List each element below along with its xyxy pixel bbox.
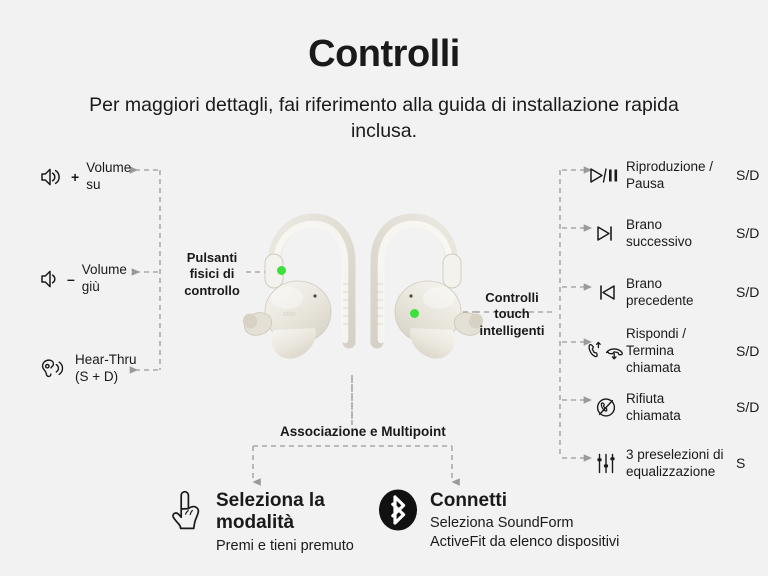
previous-track-icon <box>586 284 626 301</box>
page-title: Controlli <box>0 35 768 75</box>
pairing-step-select-mode: Seleziona la modalità Premi e tieni prem… <box>168 488 354 556</box>
left-button-indicator-dot <box>277 266 286 275</box>
earbuds-product-image: ottiv <box>243 212 483 380</box>
right-item-side: S <box>736 455 762 471</box>
right-item-side: S/D <box>736 343 762 359</box>
minus-sign: – <box>66 271 76 287</box>
infographic-canvas: Controlli Per maggiori dettagli, fai rif… <box>0 0 768 576</box>
next-track-icon <box>586 225 626 242</box>
right-item-side: S/D <box>736 399 762 415</box>
left-item-label: Volume su <box>86 160 131 194</box>
right-item-side: S/D <box>736 225 762 241</box>
play-pause-icon <box>586 167 626 184</box>
right-item-label: Rispondi / Termina chiamata <box>626 325 734 376</box>
callout-touch-controls: Controlli touch intelligenti <box>472 290 552 339</box>
pairing-step-text: Seleziona la modalità Premi e tieni prem… <box>216 488 354 556</box>
pairing-step-sub: Premi e tieni premuto <box>216 537 354 556</box>
ear-hear-through-icon <box>40 358 65 379</box>
right-item-label: Riproduzione / Pausa <box>626 158 734 192</box>
right-item-answer-end-call[interactable]: Rispondi / Termina chiamata S/D <box>586 325 762 376</box>
right-item-previous-track[interactable]: Brano precedente S/D <box>586 275 762 309</box>
right-item-play-pause[interactable]: Riproduzione / Pausa S/D <box>586 158 762 192</box>
left-item-hear-thru[interactable]: Hear-Thru (S + D) <box>40 352 137 386</box>
left-item-label: Volume giù <box>82 262 127 296</box>
speaker-wave-icon <box>40 269 60 289</box>
answer-end-call-icon <box>586 341 626 360</box>
pairing-step-sub: Seleziona SoundForm ActiveFit da elenco … <box>430 514 619 552</box>
right-item-next-track[interactable]: Brano successivo S/D <box>586 216 762 250</box>
right-item-label: Brano precedente <box>626 275 734 309</box>
right-item-reject-call[interactable]: Rifiuta chiamata S/D <box>586 390 762 424</box>
right-item-side: S/D <box>736 167 762 183</box>
tap-hand-icon <box>168 488 204 530</box>
equalizer-icon <box>586 453 626 474</box>
right-item-label: Brano successivo <box>626 216 734 250</box>
page-subtitle: Per maggiori dettagli, fai riferimento a… <box>84 92 684 145</box>
right-item-label: 3 preselezioni di equalizzazione <box>626 446 734 480</box>
left-item-volume-up[interactable]: + Volume su <box>40 160 131 194</box>
right-touch-indicator-dot <box>410 309 419 318</box>
right-item-equalizer[interactable]: 3 preselezioni di equalizzazione S <box>586 446 762 480</box>
pairing-section-title: Associazione e Multipoint <box>280 424 446 439</box>
pairing-step-connect: Connetti Seleziona SoundForm ActiveFit d… <box>378 488 619 552</box>
left-item-volume-down[interactable]: – Volume giù <box>40 262 127 296</box>
bluetooth-icon <box>378 488 418 532</box>
reject-call-icon <box>586 397 626 418</box>
speaker-waves-icon <box>40 167 64 187</box>
svg-text:ottiv: ottiv <box>283 311 296 318</box>
pairing-step-heading: Connetti <box>430 490 619 512</box>
plus-sign: + <box>70 169 80 185</box>
callout-physical-buttons: Pulsanti fisici di controllo <box>178 250 246 299</box>
left-item-label: Hear-Thru (S + D) <box>75 352 137 386</box>
pairing-step-heading: Seleziona la modalità <box>216 490 354 535</box>
right-item-side: S/D <box>736 284 762 300</box>
right-item-label: Rifiuta chiamata <box>626 390 734 424</box>
pairing-step-text: Connetti Seleziona SoundForm ActiveFit d… <box>430 488 619 552</box>
